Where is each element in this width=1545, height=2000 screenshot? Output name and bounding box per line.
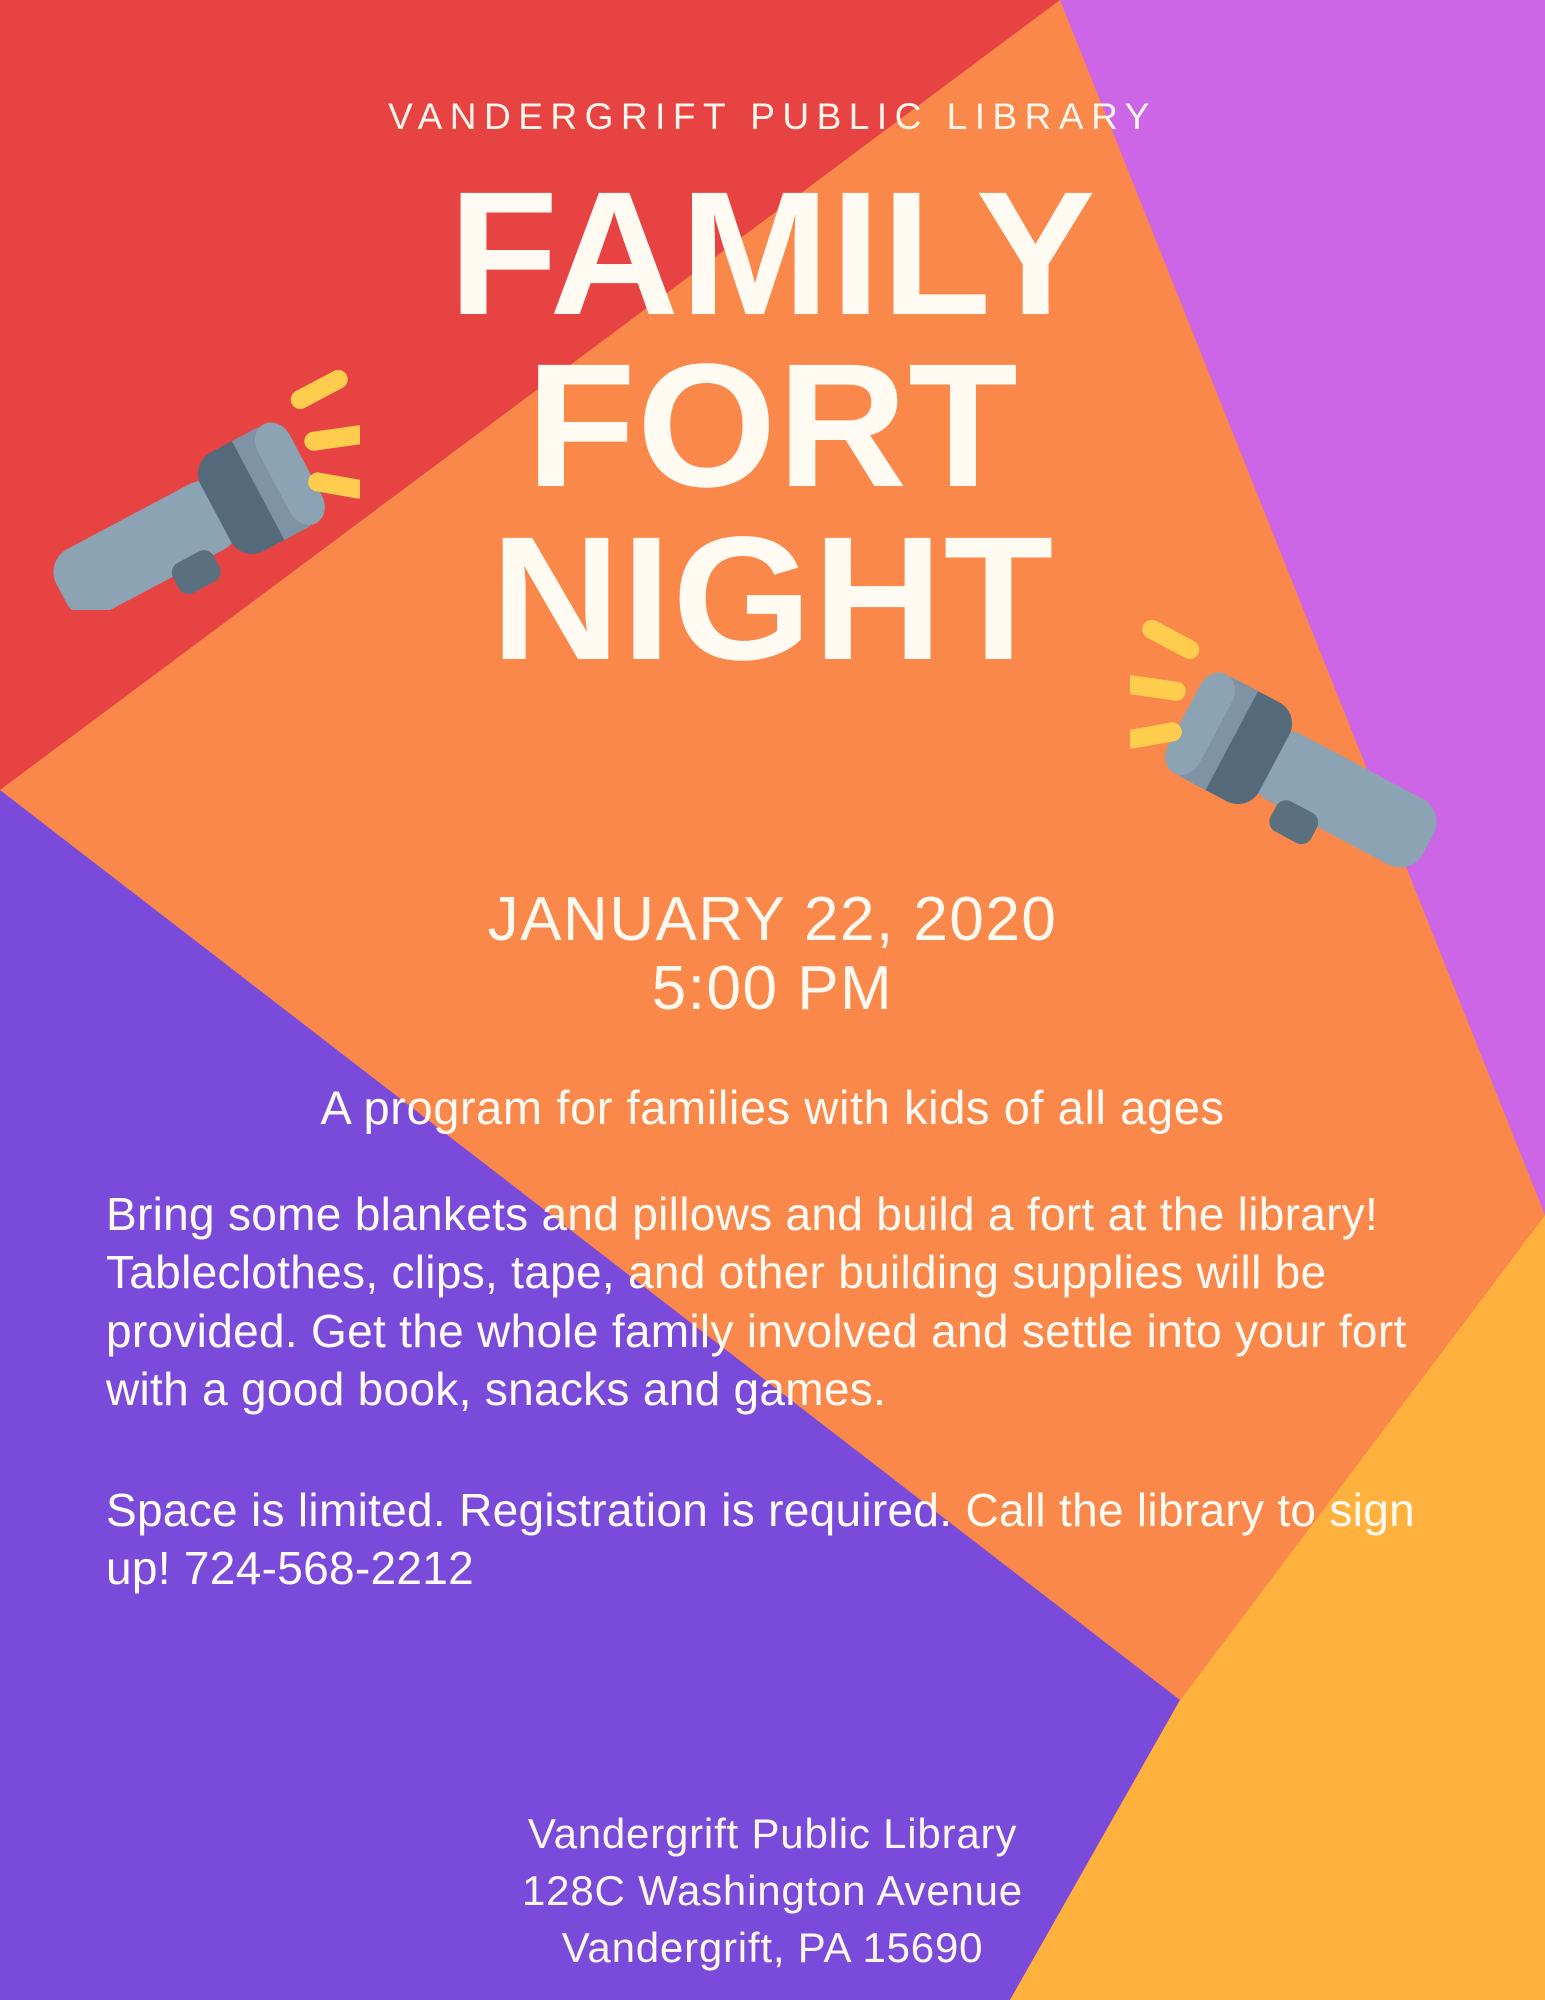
event-date: JANUARY 22, 2020 (0, 885, 1545, 954)
footer-library-name: Vandergrift Public Library (0, 1805, 1545, 1862)
event-description: Bring some blankets and pillows and buil… (106, 1185, 1466, 1597)
title-line-2: FORT (0, 340, 1545, 512)
organization-name: VANDERGRIFT PUBLIC LIBRARY (0, 96, 1545, 138)
description-paragraph-2: Space is limited. Registration is requir… (106, 1481, 1466, 1598)
description-paragraph-1: Bring some blankets and pillows and buil… (106, 1185, 1466, 1419)
page-title: FAMILY FORT NIGHT (0, 168, 1545, 685)
event-time: 5:00 PM (0, 954, 1545, 1023)
flyer-poster: VANDERGRIFT PUBLIC LIBRARY FAMILY FORT N… (0, 0, 1545, 2000)
footer-address: Vandergrift Public Library 128C Washingt… (0, 1805, 1545, 1976)
event-datetime: JANUARY 22, 2020 5:00 PM (0, 885, 1545, 1024)
title-line-1: FAMILY (0, 168, 1545, 340)
event-tagline: A program for families with kids of all … (0, 1080, 1545, 1135)
footer-city-state-zip: Vandergrift, PA 15690 (0, 1919, 1545, 1976)
title-line-3: NIGHT (0, 513, 1545, 685)
footer-street: 128C Washington Avenue (0, 1862, 1545, 1919)
